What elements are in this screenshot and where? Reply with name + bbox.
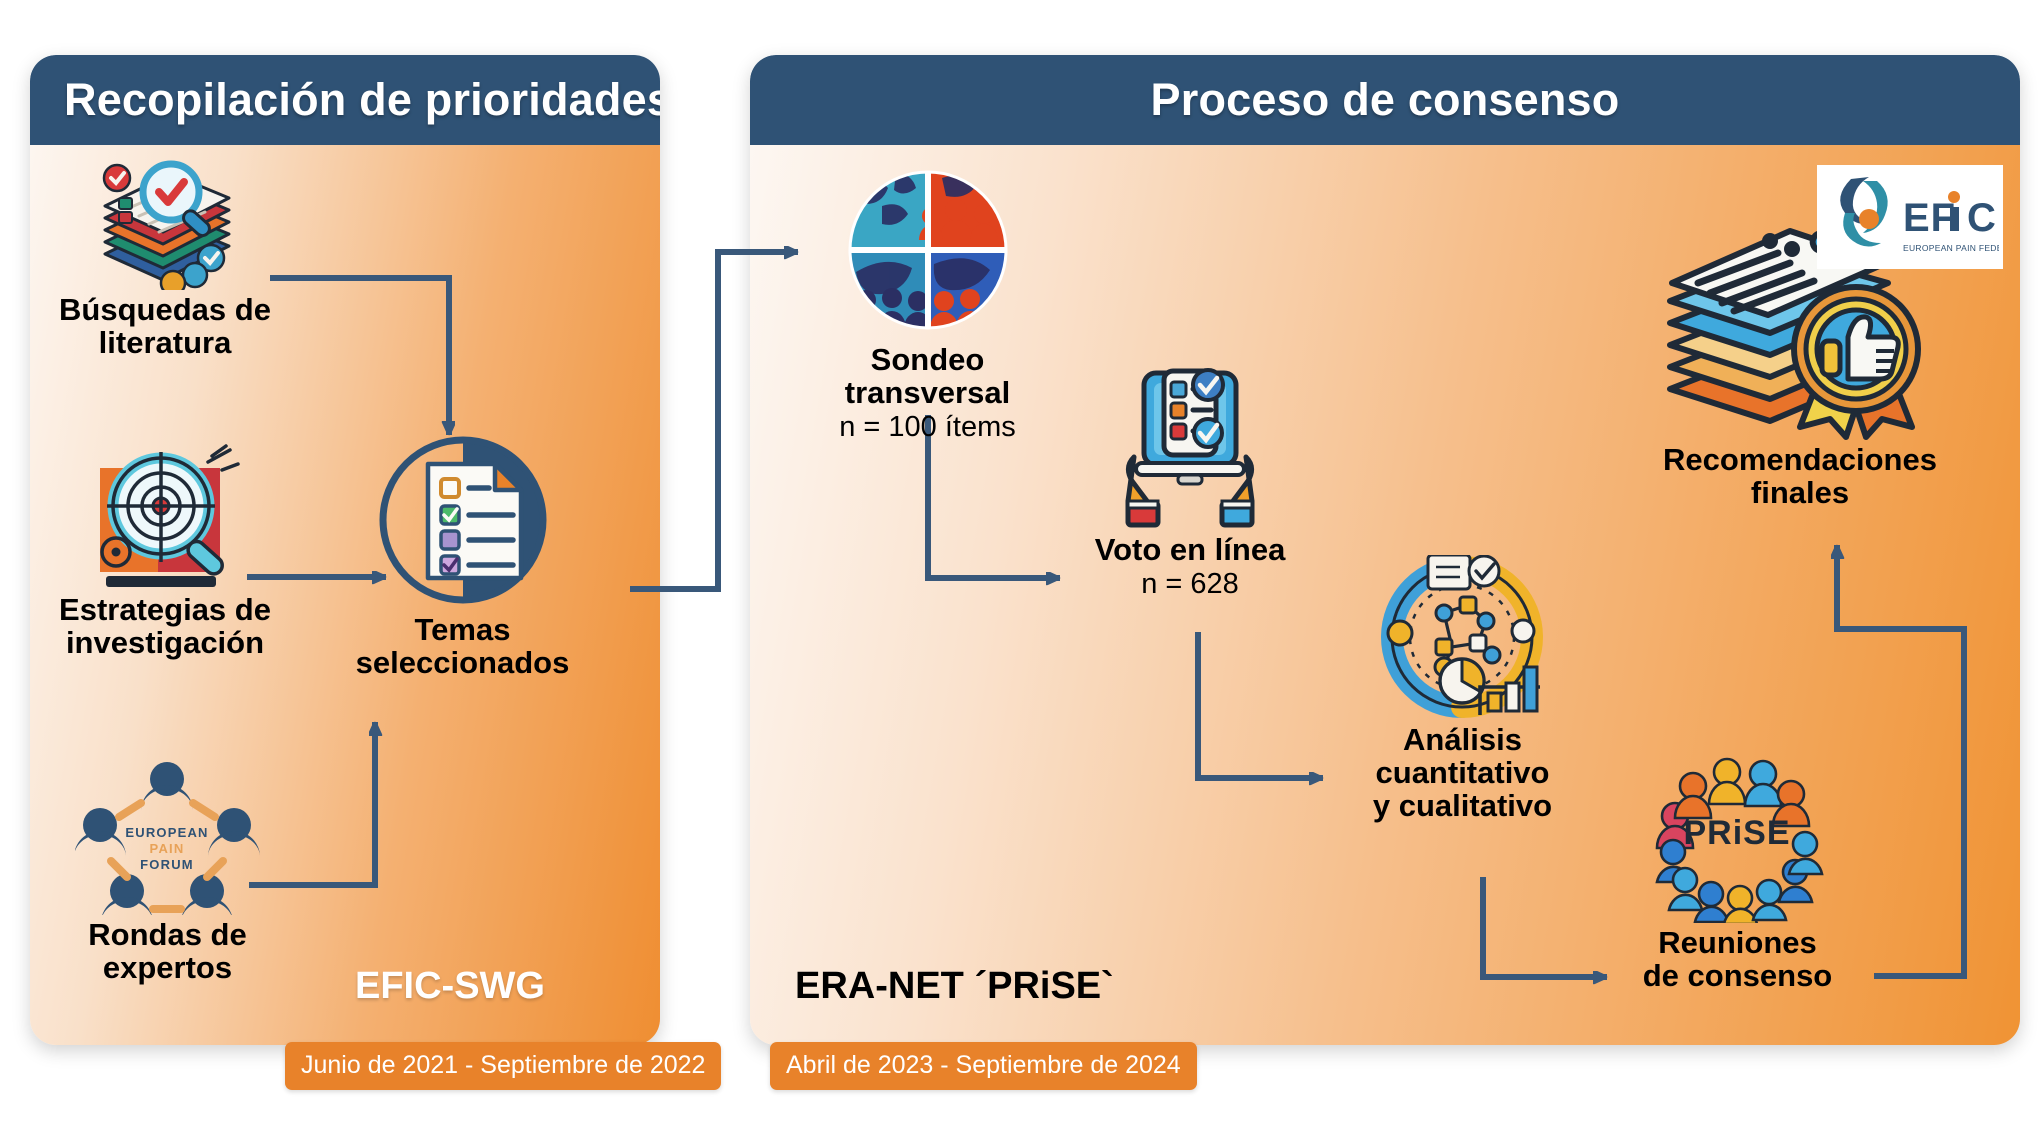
european-pain-forum-logo-icon: EUROPEAN PAIN FORUM	[75, 755, 260, 915]
prise-people-circle-logo-icon: PRiSE	[1645, 748, 1830, 923]
node-vote-sub: n = 628	[1141, 569, 1239, 601]
node-literature-label: Búsquedas de literatura	[59, 294, 271, 360]
node-online-vote: Voto en línea n = 628	[1060, 365, 1320, 601]
svg-text:EUROPEAN: EUROPEAN	[125, 825, 208, 840]
target-magnifier-icon	[78, 440, 253, 590]
efic-logo-icon: EF C EUROPEAN PAIN FEDERATION	[1821, 169, 1999, 265]
hands-holding-ballot-icon	[1120, 365, 1260, 530]
node-survey-label: Sondeo transversal	[845, 344, 1010, 410]
panel-right-title: Proceso de consenso	[1151, 74, 1620, 126]
svg-text:PAIN: PAIN	[150, 841, 185, 856]
checklist-circle-icon	[373, 430, 553, 610]
node-strategies-label: Estrategias de investigación	[59, 594, 271, 660]
node-vote-label: Voto en línea	[1095, 534, 1286, 567]
svg-text:PRiSE: PRiSE	[1683, 814, 1790, 852]
node-experts-label: Rondas de expertos	[88, 919, 246, 985]
node-recs-label: Recomendaciones finales	[1663, 444, 1937, 510]
svg-text:EUROPEAN PAIN FEDERATION: EUROPEAN PAIN FEDERATION	[1903, 243, 1999, 253]
node-meetings-label: Reuniones de consenso	[1643, 927, 1833, 993]
efic-logo-card: EF C EUROPEAN PAIN FEDERATION	[1817, 165, 2003, 269]
node-selected-topics: Temas seleccionados	[330, 430, 595, 680]
stacked-documents-search-icon	[83, 150, 248, 290]
globe-people-survey-icon	[838, 160, 1018, 340]
svg-text:FORUM: FORUM	[140, 857, 194, 872]
svg-text:EF: EF	[1903, 196, 1956, 240]
node-analysis: Análisis cuantitativo y cualitativo	[1330, 555, 1595, 823]
svg-text:C: C	[1967, 196, 1996, 240]
node-literature-searches: Búsquedas de literatura	[40, 150, 290, 360]
diagram-canvas: Recopilación de prioridades Proceso de c…	[0, 0, 2040, 1131]
node-analysis-label: Análisis cuantitativo y cualitativo	[1373, 724, 1552, 823]
panel-right-header: Proceso de consenso	[750, 55, 2020, 145]
node-cross-sectional-survey: Sondeo transversal n = 100 ítems	[800, 160, 1055, 444]
panel-left-header: Recopilación de prioridades	[30, 55, 660, 145]
panel-left-title: Recopilación de prioridades	[64, 74, 660, 126]
data-analysis-chart-icon	[1380, 555, 1545, 720]
left-program-label: EFIC-SWG	[355, 965, 545, 1008]
node-research-strategies: Estrategias de investigación	[35, 440, 295, 660]
left-date-badge: Junio de 2021 - Septiembre de 2022	[285, 1042, 721, 1090]
node-consensus-meetings: PRiSE Reuniones de consenso	[1605, 748, 1870, 993]
right-program-label: ERA-NET ´PRiSE`	[795, 965, 1114, 1008]
node-expert-rounds: EUROPEAN PAIN FORUM Rondas de expertos	[40, 755, 295, 985]
node-topics-label: Temas seleccionados	[356, 614, 570, 680]
node-survey-sub: n = 100 ítems	[839, 412, 1016, 444]
right-date-badge: Abril de 2023 - Septiembre de 2024	[770, 1042, 1197, 1090]
